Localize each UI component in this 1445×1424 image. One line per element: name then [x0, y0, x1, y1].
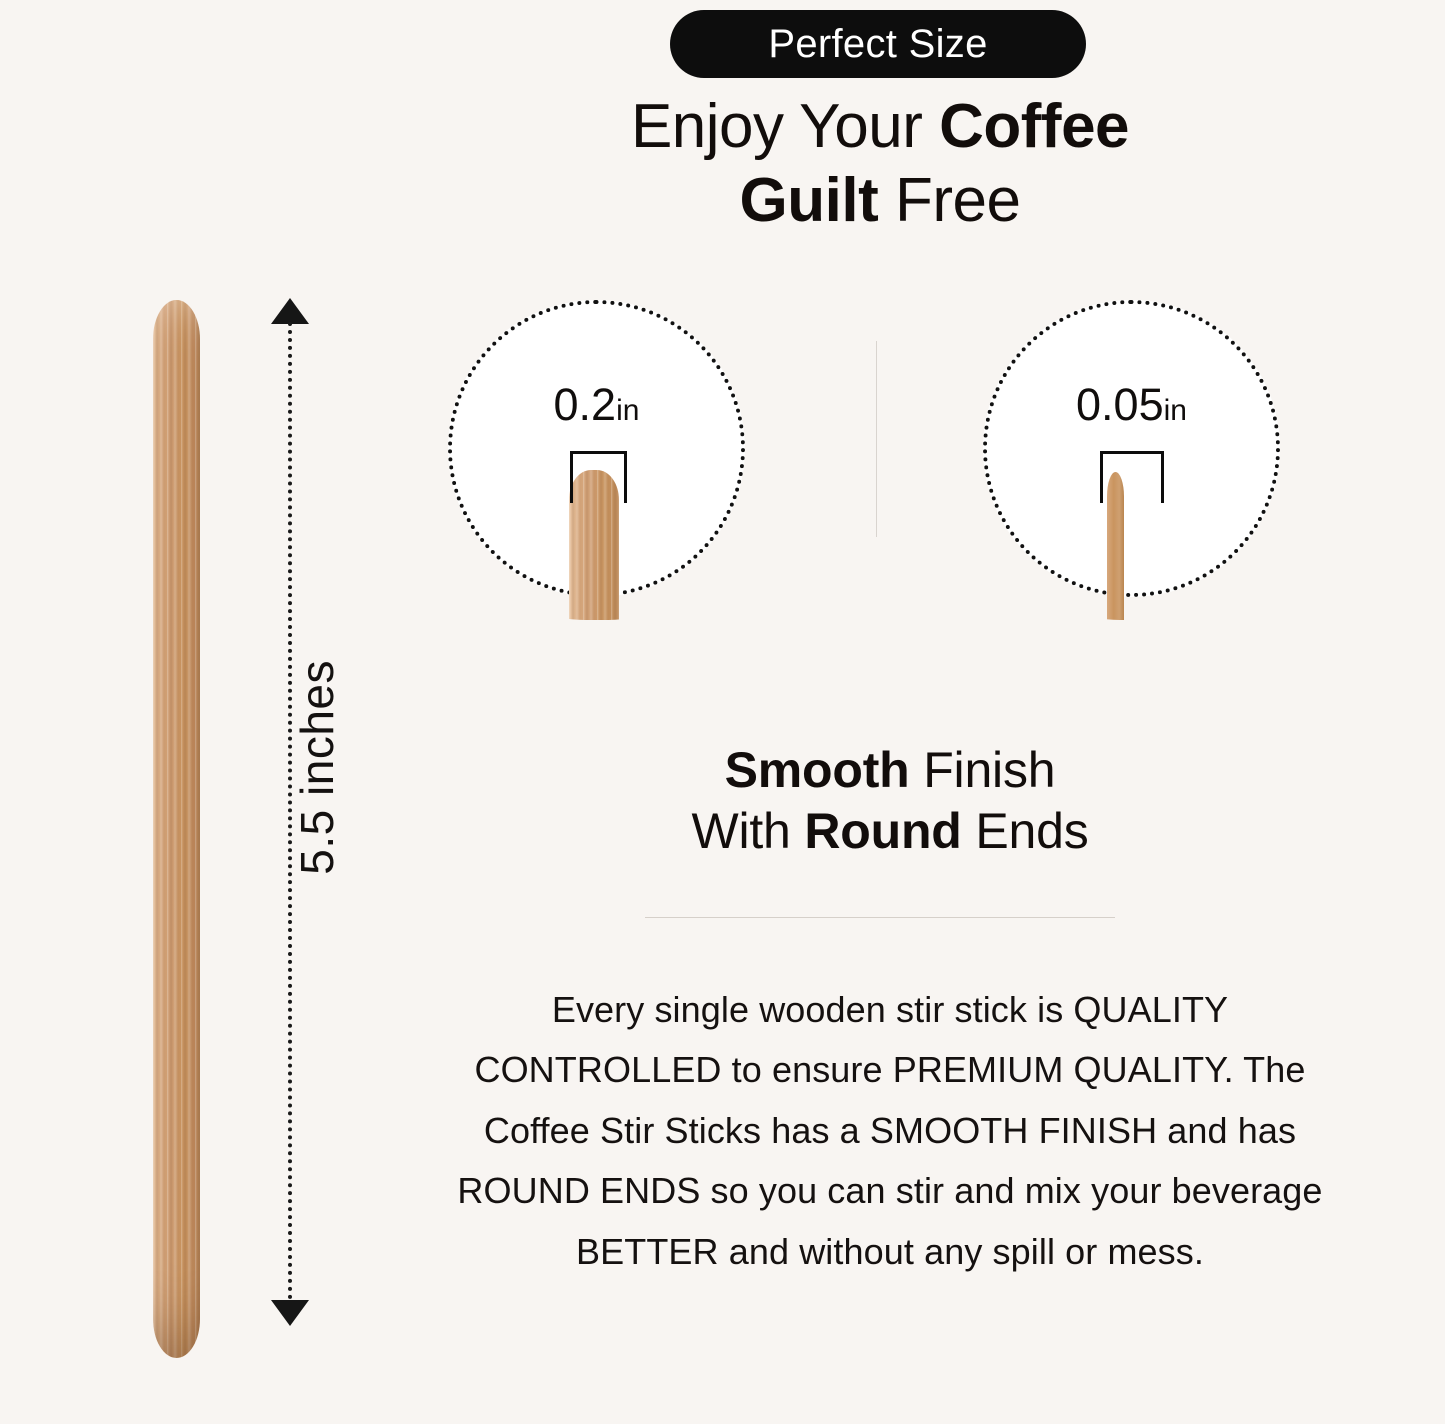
- section-subtitle: Smooth Finish With Round Ends: [470, 740, 1310, 862]
- divider-vertical: [876, 341, 877, 537]
- subhead-ends: Ends: [962, 803, 1089, 859]
- measurement-number-thickness: 0.05: [1076, 379, 1164, 430]
- subhead-with: With: [691, 803, 804, 859]
- measurement-circle-thickness: [983, 300, 1280, 597]
- subhead-round: Round: [804, 803, 961, 859]
- bracket-marker-width: [570, 451, 627, 503]
- measurement-unit-thickness: in: [1164, 394, 1187, 427]
- arrow-down-icon: [271, 1300, 309, 1326]
- arrow-up-icon: [271, 298, 309, 324]
- bracket-marker-thickness: [1100, 451, 1164, 503]
- headline-line2-light: Free: [878, 166, 1020, 235]
- divider-horizontal: [645, 917, 1115, 918]
- product-description: Every single wooden stir stick is QUALIT…: [440, 980, 1340, 1282]
- status-badge: Perfect Size: [670, 10, 1086, 78]
- stir-stick-full: [153, 300, 200, 1358]
- length-label: 5.5 inches: [290, 660, 344, 875]
- subhead-smooth: Smooth: [725, 742, 910, 798]
- measurement-value-width: 0.2in: [448, 382, 745, 427]
- subhead-finish: Finish: [910, 742, 1056, 798]
- headline-line2-bold: Guilt: [740, 166, 879, 235]
- measurement-number-width: 0.2: [554, 379, 617, 430]
- headline-line1-light: Enjoy Your: [631, 92, 939, 161]
- measurement-value-thickness: 0.05in: [983, 382, 1280, 427]
- measurement-circle-width: [448, 300, 745, 597]
- badge-label: Perfect Size: [768, 24, 987, 64]
- page-title: Enjoy Your Coffee Guilt Free: [480, 90, 1280, 239]
- headline-line1-bold: Coffee: [939, 92, 1129, 161]
- product-infographic: Perfect Size Enjoy Your Coffee Guilt Fre…: [0, 0, 1445, 1424]
- measurement-unit-width: in: [616, 394, 639, 427]
